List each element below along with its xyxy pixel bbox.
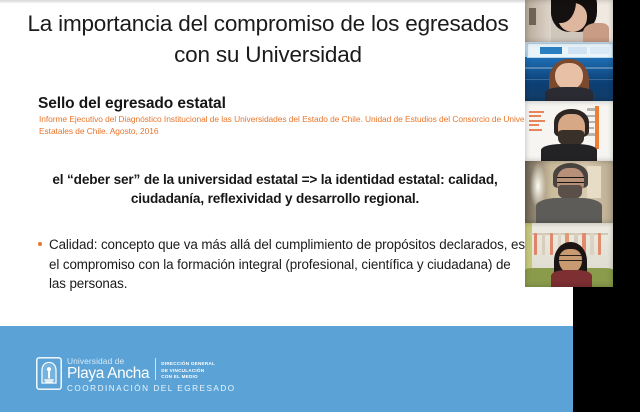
direction-line-2: DE VINCULACIÓN (161, 368, 215, 375)
screen: La importancia del compromiso de los egr… (0, 0, 640, 412)
bullet-item-text: Calidad: concepto que va más allá del cu… (49, 235, 528, 294)
logo-top-row: Universidad de Playa Ancha DIRECCIÓN GEN… (67, 357, 236, 381)
presentation-slide: La importancia del compromiso de los egr… (0, 0, 573, 412)
participant-tile-3[interactable] (525, 101, 613, 161)
key-statement: el “deber ser” de la universidad estatal… (40, 170, 510, 208)
right-black-gutter (613, 0, 640, 412)
crest-icon (36, 357, 62, 390)
participant-tile-2[interactable] (525, 42, 613, 101)
section-heading: Sello del egresado estatal (38, 95, 226, 113)
footer-band-below-tiles (525, 326, 573, 412)
direction-block: DIRECCIÓN GENERAL DE VINCULACIÓN CON EL … (161, 361, 215, 381)
bullet-dot-icon (38, 242, 42, 246)
coordination-label: COORDINACIÓN DEL EGRESADO (67, 381, 236, 394)
slide-title: La importancia del compromiso de los egr… (18, 8, 518, 70)
logo-text-group: Universidad de Playa Ancha DIRECCIÓN GEN… (67, 357, 236, 394)
direction-line-1: DIRECCIÓN GENERAL (161, 361, 215, 368)
university-name-main: Playa Ancha (67, 366, 149, 381)
bullet-item: Calidad: concepto que va más allá del cu… (38, 235, 528, 294)
participant-tile-5[interactable] (525, 223, 613, 287)
logo-divider (155, 358, 156, 380)
tile3-vignette (525, 101, 613, 161)
citation-reference: Informe Ejecutivo del Diagnóstico Instit… (39, 114, 569, 137)
direction-line-3: CON EL MEDIO (161, 374, 215, 381)
university-logo: Universidad de Playa Ancha DIRECCIÓN GEN… (36, 357, 236, 394)
slide-area-below-tiles (525, 287, 573, 326)
tile5-vignette (525, 223, 613, 287)
tile4-vignette (525, 161, 613, 223)
participant-tile-4[interactable] (525, 161, 613, 223)
university-name-block: Universidad de Playa Ancha (67, 357, 149, 381)
participant-tile-1[interactable] (525, 0, 613, 42)
tile2-vignette (525, 42, 613, 101)
tile1-vignette (525, 0, 613, 42)
slide-top-border (0, 0, 573, 3)
